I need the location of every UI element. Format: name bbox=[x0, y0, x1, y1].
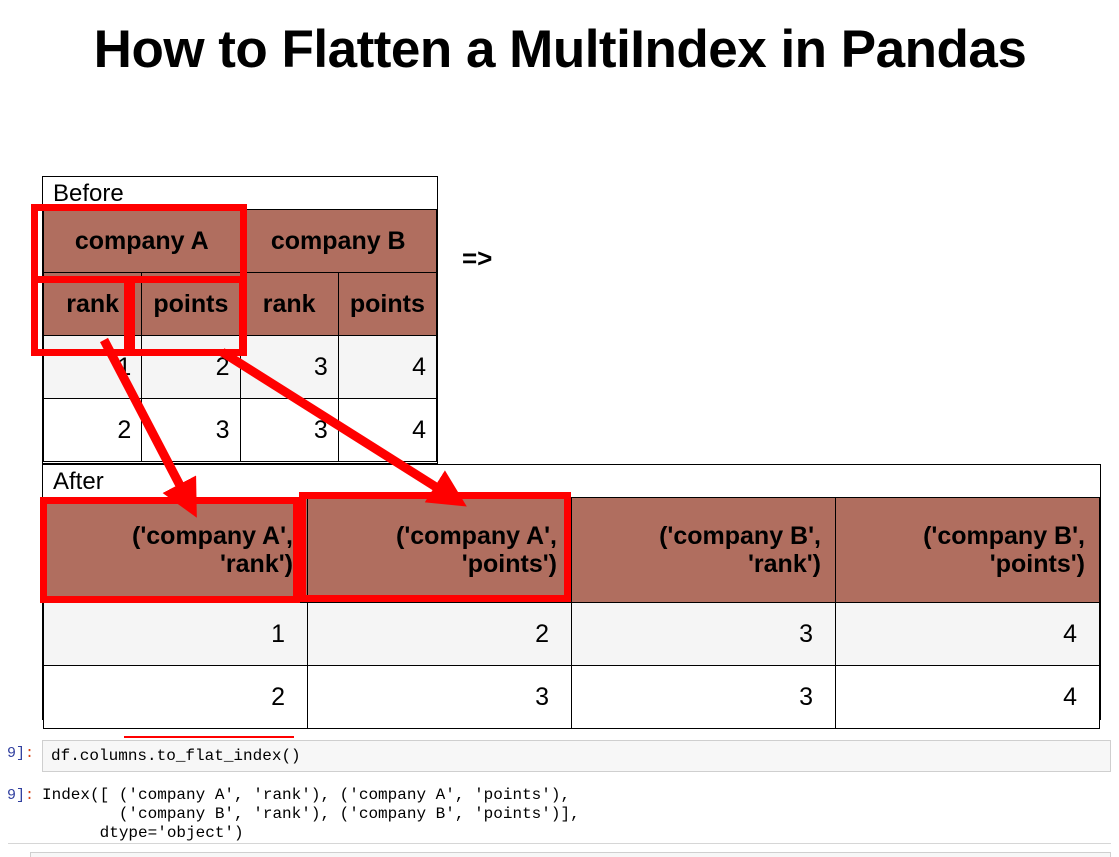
before-table-row: 2 3 3 4 bbox=[44, 399, 437, 462]
before-dataframe-table: Before company A company B rank points r… bbox=[42, 176, 438, 464]
after-table-grid: ('company A', 'rank') ('company A', 'poi… bbox=[43, 497, 1100, 729]
before-cell: 3 bbox=[240, 399, 338, 462]
after-dataframe-table: After ('company A', 'rank') ('company A'… bbox=[42, 464, 1101, 720]
before-caption: Before bbox=[43, 177, 437, 209]
notebook-output-prompt: 9]: bbox=[0, 780, 34, 807]
notebook-code-output: Index([ ('company A', 'rank'), ('company… bbox=[42, 782, 1111, 843]
before-header-company-b: company B bbox=[240, 210, 437, 273]
after-caption: After bbox=[43, 465, 1100, 497]
after-cell: 2 bbox=[44, 666, 308, 729]
after-header-company-a-points: ('company A', 'points') bbox=[308, 498, 572, 603]
notebook-next-cell-stub[interactable] bbox=[30, 852, 1111, 857]
before-cell: 2 bbox=[44, 399, 142, 462]
before-subheader-a-rank: rank bbox=[44, 273, 142, 336]
after-cell: 1 bbox=[44, 603, 308, 666]
transition-arrow-icon: => bbox=[462, 243, 492, 274]
notebook-divider bbox=[8, 843, 1111, 844]
before-subheader-b-rank: rank bbox=[240, 273, 338, 336]
before-subheader-b-points: points bbox=[338, 273, 436, 336]
after-header-company-a-rank: ('company A', 'rank') bbox=[44, 498, 308, 603]
after-cell: 3 bbox=[572, 603, 836, 666]
before-table-row: 1 2 3 4 bbox=[44, 336, 437, 399]
before-header-company-a: company A bbox=[44, 210, 241, 273]
before-subheader-a-points: points bbox=[142, 273, 240, 336]
before-cell: 3 bbox=[142, 399, 240, 462]
after-cell: 3 bbox=[308, 666, 572, 729]
after-table-row: 2 3 3 4 bbox=[44, 666, 1100, 729]
notebook-input-row: 9]: df.columns.to_flat_index() bbox=[0, 738, 1119, 772]
before-cell: 1 bbox=[44, 336, 142, 399]
before-header-row-sub: rank points rank points bbox=[44, 273, 437, 336]
notebook-code-input[interactable]: df.columns.to_flat_index() bbox=[42, 740, 1111, 772]
notebook-output-prompt-number: 9] bbox=[7, 787, 25, 804]
before-cell: 4 bbox=[338, 399, 436, 462]
notebook-output-row: 9]: Index([ ('company A', 'rank'), ('com… bbox=[0, 780, 1119, 843]
before-cell: 3 bbox=[240, 336, 338, 399]
before-cell: 2 bbox=[142, 336, 240, 399]
after-header-company-b-points: ('company B', 'points') bbox=[836, 498, 1100, 603]
before-header-row-top: company A company B bbox=[44, 210, 437, 273]
after-cell: 2 bbox=[308, 603, 572, 666]
after-header-row: ('company A', 'rank') ('company A', 'poi… bbox=[44, 498, 1100, 603]
after-table-row: 1 2 3 4 bbox=[44, 603, 1100, 666]
after-cell: 3 bbox=[572, 666, 836, 729]
notebook-input-prompt-number: 9] bbox=[7, 745, 25, 762]
after-cell: 4 bbox=[836, 666, 1100, 729]
page-title: How to Flatten a MultiIndex in Pandas bbox=[60, 18, 1060, 83]
notebook-input-prompt: 9]: bbox=[0, 738, 34, 765]
after-header-company-b-rank: ('company B', 'rank') bbox=[572, 498, 836, 603]
before-table-grid: company A company B rank points rank poi… bbox=[43, 209, 437, 462]
notebook-input-prompt-colon: : bbox=[25, 745, 34, 762]
after-cell: 4 bbox=[836, 603, 1100, 666]
notebook-output-prompt-colon: : bbox=[25, 787, 34, 804]
before-cell: 4 bbox=[338, 336, 436, 399]
notebook-cell: 9]: df.columns.to_flat_index() 9]: Index… bbox=[0, 738, 1119, 857]
